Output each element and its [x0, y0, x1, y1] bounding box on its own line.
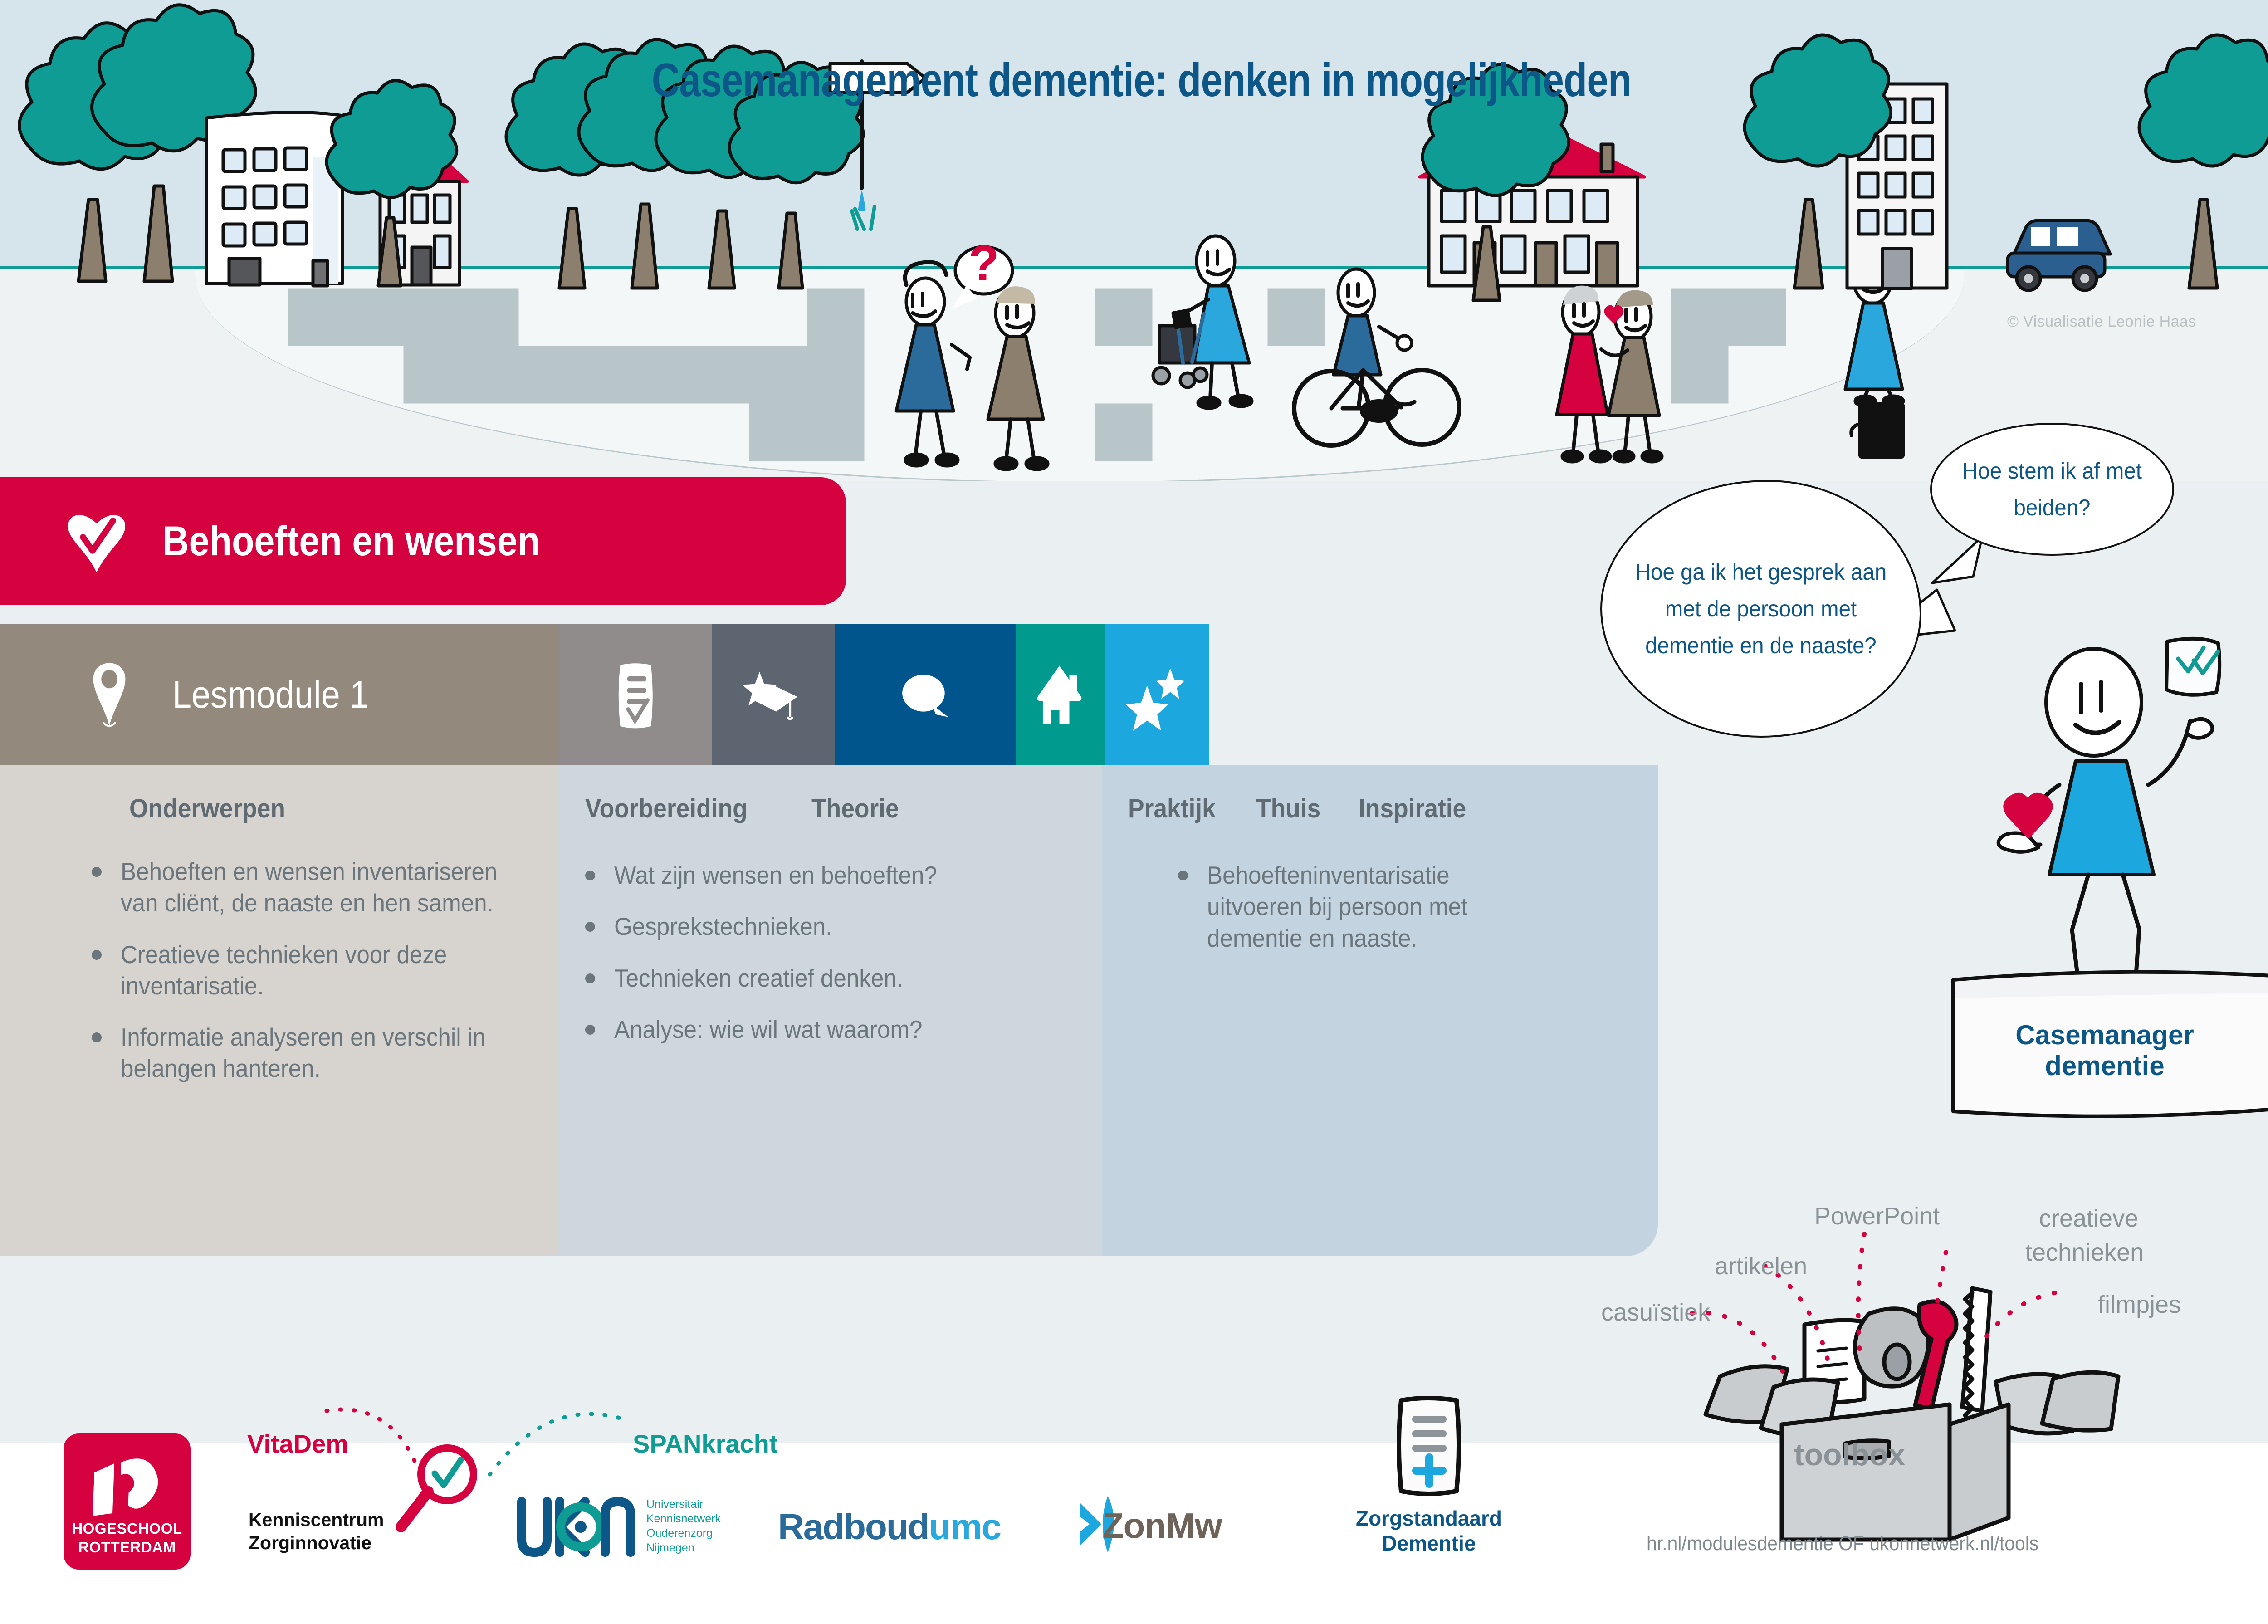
car-icon — [2008, 220, 2110, 290]
list-item: Creatieve technieken voor deze inventari… — [86, 939, 531, 1002]
speech-bubble-tail-2 — [1905, 533, 1996, 606]
page-title: Casemanagement dementie: denken in mogel… — [205, 54, 2077, 108]
list-item: Analyse: wie wil wat waarom? — [580, 1014, 1065, 1045]
ukon-logo — [513, 1497, 644, 1558]
heading-voorbereiding: Voorbereiding — [585, 793, 748, 824]
infographic-canvas: ? — [0, 0, 2268, 1624]
toolbox-word: toolbox — [1794, 1437, 1906, 1472]
panel-voorbereiding-bullets: Wat zijn wensen en behoeften? Gesprekste… — [580, 860, 1065, 1065]
tab-lesmodule-label: Lesmodule 1 — [172, 673, 369, 717]
kc-line2: Zorginnovatie — [249, 1532, 371, 1553]
heading-onderwerpen: Onderwerpen — [129, 793, 285, 824]
svg-text:?: ? — [968, 235, 999, 291]
building-icon — [206, 113, 342, 286]
list-item: Behoefteninventarisatie uitvoeren bij pe… — [1173, 860, 1554, 954]
bullet-text: Wat zijn wensen en behoeften? — [614, 860, 937, 891]
module-tab-strip: Lesmodule 1 — [0, 624, 1209, 765]
toolbox-label-technieken: technieken — [2025, 1238, 2144, 1267]
tab-voorbereiding[interactable] — [558, 624, 712, 765]
bullet-text: Technieken creatief denken. — [614, 963, 903, 994]
tab-thuis[interactable] — [1016, 624, 1105, 765]
heading-praktijk: Praktijk — [1128, 793, 1216, 824]
list-item: Behoeften en wensen inventariseren van c… — [86, 856, 531, 919]
tab-inspiratie[interactable] — [1105, 624, 1209, 765]
graduation-cap-icon — [746, 660, 801, 729]
toolbox-urls[interactable]: hr.nl/modulesdementie OF ukonnetwerk.nl/… — [1647, 1532, 2038, 1555]
toolbox-label-casuistiek: casuïstiek — [1601, 1298, 1710, 1326]
toolbox-label-artikelen: artikelen — [1715, 1252, 1807, 1280]
zsd-line1: Zorgstandaard — [1356, 1507, 1502, 1530]
radboud-main: Radboud — [778, 1507, 929, 1547]
vitadem-spankracht-arcs — [318, 1393, 771, 1511]
bullet-text: Gesprekstechnieken. — [614, 911, 832, 942]
kc-line1: Kenniscentrum — [249, 1509, 384, 1530]
ukon-sub-3: Ouderenzorg — [646, 1527, 713, 1540]
tree-icon — [2139, 35, 2268, 288]
panel-praktijk-headings: Praktijk Thuis Inspiratie — [1128, 793, 1476, 824]
house-icon — [1033, 660, 1088, 729]
heading-theorie: Theorie — [811, 793, 899, 824]
hr-mark-icon — [85, 1454, 171, 1522]
radboudumc-logo: Radboudumc — [778, 1506, 1001, 1548]
zonmw-logo-text: ZonMw — [1102, 1505, 1222, 1546]
panel-onderwerpen-headings: Onderwerpen — [129, 793, 299, 824]
tab-praktijk[interactable] — [835, 624, 1016, 765]
bullet-text: Behoeften en wensen inventariseren van c… — [121, 856, 502, 919]
list-item: Wat zijn wensen en behoeften? — [580, 860, 1065, 891]
copyright-credit: © Visualisatie Leonie Haas — [2007, 313, 2196, 331]
zorgstandaard-document-icon — [1390, 1395, 1467, 1497]
tab-theorie[interactable] — [712, 624, 835, 765]
speech-bubble-gesprek: Hoe ga ik het gesprek aan met de persoon… — [1600, 480, 1921, 738]
panel-praktijk-bullets: Behoefteninventarisatie uitvoeren bij pe… — [1173, 860, 1554, 974]
list-item: Technieken creatief denken. — [580, 963, 1065, 994]
casemanager-label: Casemanager dementie — [1964, 1020, 2245, 1082]
map-pin-icon — [82, 660, 137, 729]
speech-bubble-afstemmen: Hoe stem ik af met beiden? — [1930, 423, 2174, 556]
person-with-rollator — [1153, 236, 1252, 408]
list-item: Gesprekstechnieken. — [580, 911, 1065, 942]
content-panels: Onderwerpen Behoeften en wensen inventar… — [0, 765, 1658, 1256]
checklist-icon — [607, 660, 663, 729]
panel-voorbereiding-theorie: Voorbereiding Theorie Wat zijn wensen en… — [558, 765, 1102, 1256]
bullet-text: Creatieve technieken voor deze inventari… — [121, 939, 502, 1002]
hr-line2: ROTTERDAM — [78, 1539, 176, 1556]
casemanager-label-line1: Casemanager — [2015, 1020, 2194, 1050]
speech-bubble-icon — [898, 660, 953, 729]
ukon-subtitle: Universitair Kennisnetwerk Ouderenzorg N… — [646, 1497, 721, 1555]
magnifier-check-icon — [390, 1438, 494, 1542]
toolbox-label-filmpjes: filmpjes — [2098, 1291, 2181, 1319]
speech-bubble-gesprek-text: Hoe ga ik het gesprek aan met de persoon… — [1610, 554, 1912, 664]
panel-onderwerpen: Onderwerpen Behoeften en wensen inventar… — [0, 765, 558, 1256]
bullet-text: Behoefteninventarisatie uitvoeren bij pe… — [1207, 860, 1530, 954]
heading-inspiratie: Inspiratie — [1359, 793, 1466, 824]
panel-onderwerpen-bullets: Behoeften en wensen inventariseren van c… — [86, 856, 531, 1105]
list-item: Informatie analyseren en verschil in bel… — [86, 1022, 531, 1085]
radboud-sub: umc — [929, 1507, 1001, 1547]
zsd-line2: Dementie — [1382, 1531, 1476, 1555]
behoeften-banner: Behoeften en wensen — [0, 477, 846, 605]
hogeschool-rotterdam-logo: HOGESCHOOL ROTTERDAM — [64, 1433, 191, 1570]
kenniscentrum-label: Kenniscentrum Zorginnovatie — [249, 1508, 384, 1555]
heading-thuis: Thuis — [1256, 793, 1320, 824]
hogeschool-rotterdam-text: HOGESCHOOL ROTTERDAM — [64, 1519, 191, 1557]
ukon-sub-4: Nijmegen — [646, 1541, 694, 1554]
stars-icon — [1129, 660, 1184, 729]
heart-check-icon — [63, 507, 131, 575]
zorgstandaard-label: Zorgstandaard Dementie — [1343, 1506, 1515, 1556]
banner-label: Behoeften en wensen — [162, 518, 540, 565]
speech-bubble-afstemmen-text: Hoe stem ik af met beiden? — [1938, 453, 2166, 526]
toolbox-label-creatieve: creatieve — [2039, 1204, 2138, 1233]
bullet-text: Analyse: wie wil wat waarom? — [614, 1014, 922, 1045]
casemanager-label-line2: dementie — [2045, 1051, 2164, 1081]
ukon-sub-2: Kennisnetwerk — [646, 1512, 721, 1525]
hr-line1: HOGESCHOOL — [72, 1520, 182, 1537]
ukon-sub-1: Universitair — [646, 1498, 703, 1511]
toolbox-label-powerpoint: PowerPoint — [1814, 1202, 1940, 1230]
bullet-text: Informatie analyseren en verschil in bel… — [121, 1022, 502, 1085]
tab-lesmodule[interactable]: Lesmodule 1 — [0, 624, 558, 765]
panel-voorbereiding-headings: Voorbereiding Theorie — [585, 793, 906, 824]
